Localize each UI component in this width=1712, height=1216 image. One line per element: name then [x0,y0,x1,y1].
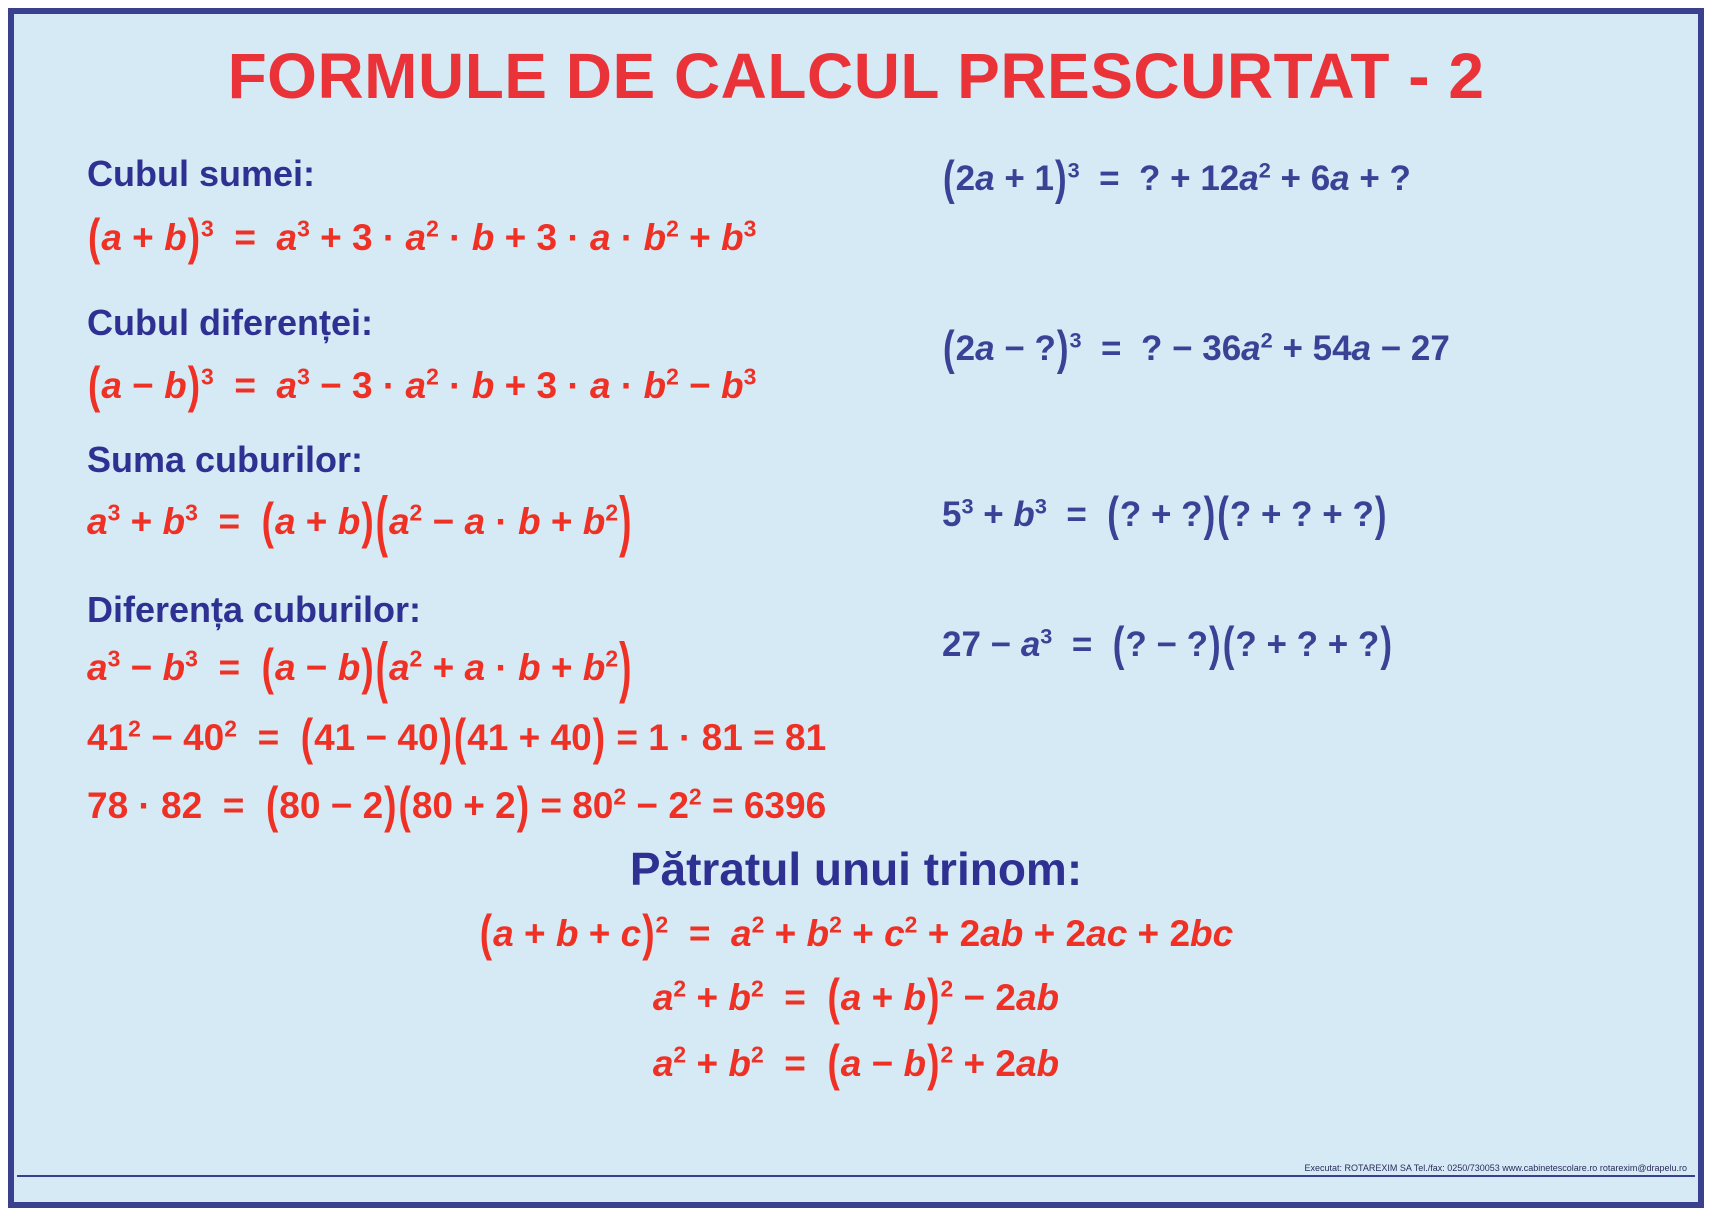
section-heading-cubul-sumei: Cubul sumei: [87,153,315,195]
section-heading-patratul-unui-trinom: Pătratul unui trinom: [17,842,1695,896]
page-title: FORMULE DE CALCUL PRESCURTAT - 2 [17,43,1695,110]
footer-divider [17,1175,1695,1177]
exercise-1: (2a + 1)3 = ? + 12a2 + 6a + ? [942,159,1411,199]
formula-cubul-diferentei: (a − b)3 = a3 − 3 · a2 · b + 3 · a · b2 … [87,365,756,407]
formula-suma-patratelor-plus: a2 + b2 = (a − b)2 + 2ab [17,1043,1695,1085]
section-heading-cubul-diferentei: Cubul diferenței: [87,302,373,344]
poster-inner-frame: FORMULE DE CALCUL PRESCURTAT - 2 Cubul s… [14,14,1698,1202]
formula-patratul-trinomului: (a + b + c)2 = a2 + b2 + c2 + 2ab + 2ac … [17,913,1695,955]
numeric-example-2: 78 · 82 = (80 − 2)(80 + 2) = 802 − 22 = … [87,785,826,827]
exercise-2: (2a − ?)3 = ? − 36a2 + 54a − 27 [942,329,1450,369]
section-heading-diferenta-cuburilor: Diferența cuburilor: [87,589,421,631]
formula-diferenta-cuburilor: a3 − b3 = (a − b)(a2 + a · b + b2) [87,647,632,689]
exercise-3: 53 + b3 = (? + ?)(? + ? + ?) [942,495,1387,535]
poster-sheet: FORMULE DE CALCUL PRESCURTAT - 2 Cubul s… [17,17,1695,1199]
formula-suma-cuburilor: a3 + b3 = (a + b)(a2 − a · b + b2) [87,501,632,543]
footer-credit: Executat: ROTAREXIM SA Tel./fax: 0250/73… [1305,1163,1688,1173]
section-heading-suma-cuburilor: Suma cuburilor: [87,439,363,481]
formula-cubul-sumei: (a + b)3 = a3 + 3 · a2 · b + 3 · a · b2 … [87,217,756,259]
poster-outer-frame: FORMULE DE CALCUL PRESCURTAT - 2 Cubul s… [8,8,1704,1208]
formula-suma-patratelor-minus: a2 + b2 = (a + b)2 − 2ab [17,977,1695,1019]
numeric-example-1: 412 − 402 = (41 − 40)(41 + 40) = 1 · 81 … [87,717,826,759]
poster: FORMULE DE CALCUL PRESCURTAT - 2 Cubul s… [0,0,1712,1216]
exercise-4: 27 − a3 = (? − ?)(? + ? + ?) [942,625,1393,665]
